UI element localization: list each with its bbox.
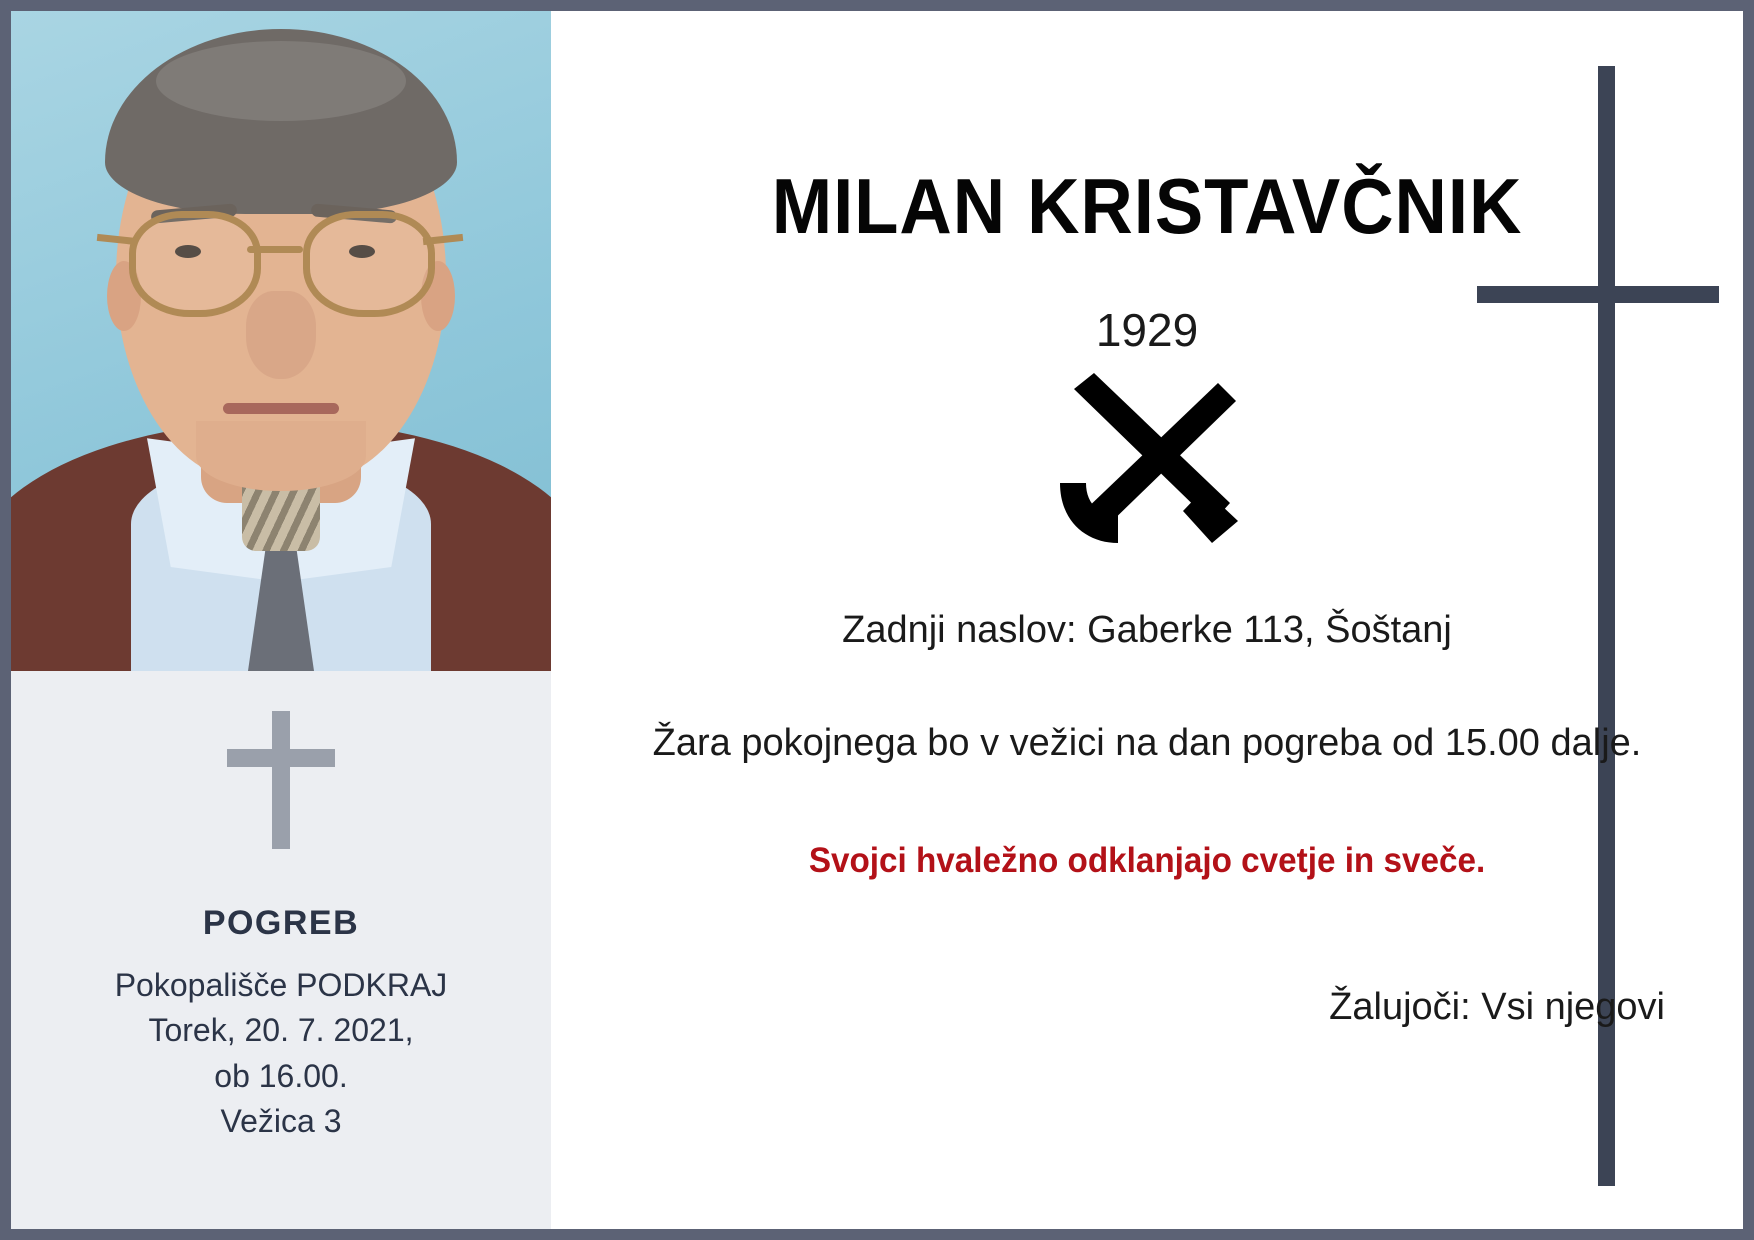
- deceased-portrait-photo: [11, 11, 551, 671]
- mourners-line: Žalujoči: Vsi njegovi: [1329, 986, 1665, 1029]
- decorative-cross-horizontal-bar: [1477, 286, 1719, 303]
- right-column: MILAN KRISTAVČNIK 1929 Zadnji naslov: Ga…: [551, 11, 1743, 1229]
- funeral-time: ob 16.00.: [214, 1054, 347, 1099]
- funeral-date: Torek, 20. 7. 2021,: [148, 1008, 413, 1053]
- memorial-notice-card: POGREB Pokopališče PODKRAJ Torek, 20. 7.…: [0, 0, 1754, 1240]
- crossed-hammer-and-pick-icon: [551, 371, 1743, 546]
- portrait-chin: [196, 421, 366, 491]
- funeral-cemetery: Pokopališče PODKRAJ: [115, 963, 448, 1008]
- portrait-hair-highlight: [156, 41, 406, 121]
- latin-cross-icon: [211, 705, 351, 860]
- left-column: POGREB Pokopališče PODKRAJ Torek, 20. 7.…: [11, 11, 551, 1229]
- portrait-eyeglass-lens-left: [129, 211, 261, 317]
- portrait-eyeglass-lens-right: [303, 211, 435, 317]
- funeral-details-panel: POGREB Pokopališče PODKRAJ Torek, 20. 7.…: [11, 671, 551, 1229]
- birth-year: 1929: [551, 303, 1743, 357]
- deceased-name: MILAN KRISTAVČNIK: [593, 161, 1702, 252]
- urn-viewing-note: Žara pokojnega bo v vežici na dan pogreb…: [591, 717, 1703, 771]
- portrait-nose: [246, 291, 316, 379]
- portrait-mouth: [223, 403, 339, 414]
- last-address: Zadnji naslov: Gaberke 113, Šoštanj: [611, 609, 1683, 652]
- flowers-declined-note: Svojci hvaležno odklanjajo cvetje in sve…: [619, 841, 1675, 881]
- funeral-chapel: Vežica 3: [221, 1099, 342, 1144]
- funeral-heading: POGREB: [203, 904, 359, 943]
- portrait-eyeglass-bridge: [247, 246, 303, 253]
